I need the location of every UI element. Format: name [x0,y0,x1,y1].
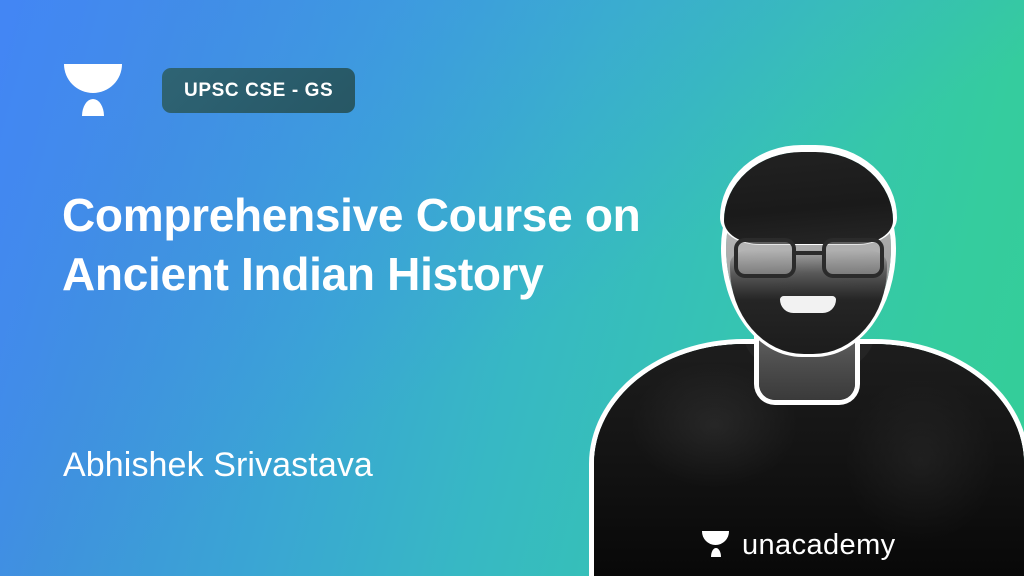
course-thumbnail: UPSC CSE - GS Comprehensive Course on An… [0,0,1024,576]
mini-logo-bowl-shape [702,531,729,545]
educator-photo-silhouette: unacademy [584,146,1024,576]
glasses-bridge [796,251,822,255]
educator-photo: unacademy [584,146,1024,576]
tshirt-brand-logo: unacademy [702,529,896,562]
course-title: Comprehensive Course on Ancient Indian H… [62,186,642,304]
eyeglasses-icon [734,238,884,278]
tshirt-wordmark: unacademy [742,529,896,562]
hair-shape [724,152,893,244]
logo-bowl-shape [64,64,122,93]
glasses-right-lens [822,238,884,278]
goal-badge[interactable]: UPSC CSE - GS [162,68,355,113]
smile-shape [780,296,836,313]
logo-stem-shape [82,99,104,116]
unacademy-bowl-logo-icon-small [702,531,729,561]
educator-name: Abhishek Srivastava [63,446,373,485]
unacademy-bowl-logo-icon [64,64,122,118]
glasses-left-lens [734,238,796,278]
mini-logo-stem-shape [711,548,721,557]
